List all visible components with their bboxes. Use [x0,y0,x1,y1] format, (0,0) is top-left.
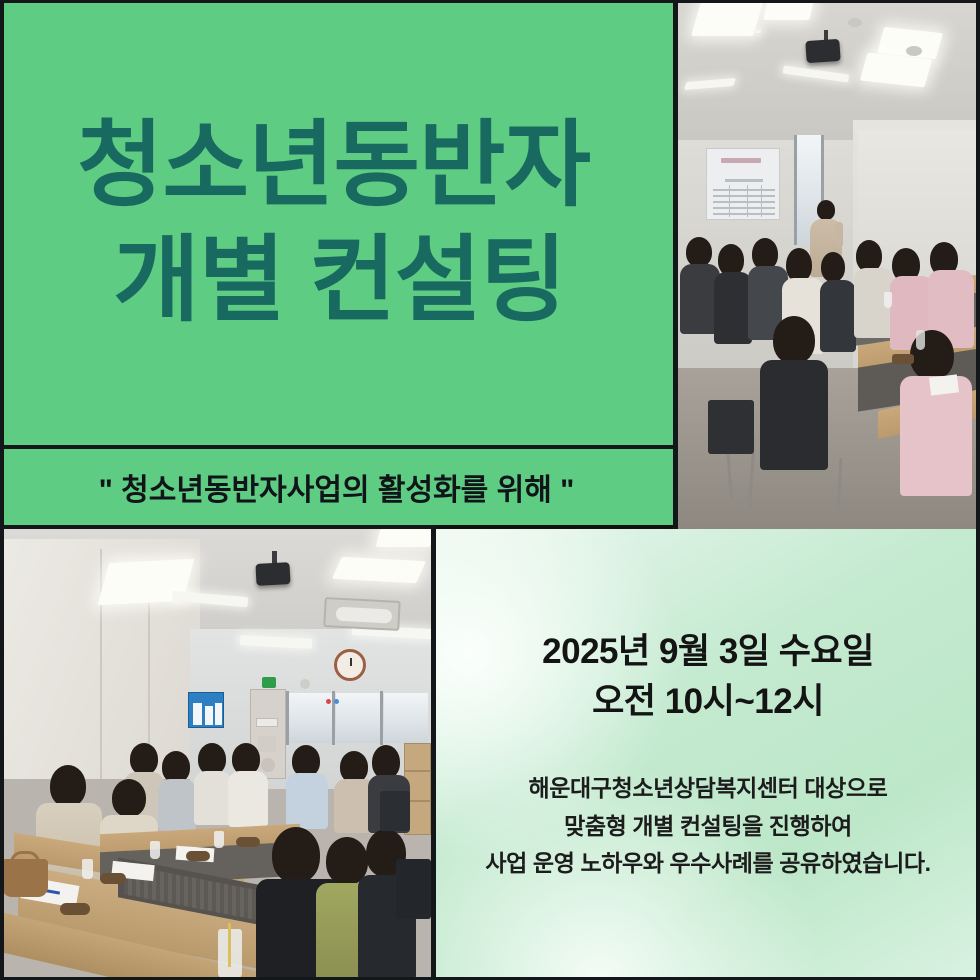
description-line-2: 맞춤형 개별 컨설팅을 진행하여 [564,808,852,845]
title-block: 청소년동반자 개별 컨설팅 [0,0,673,445]
event-time-line: 오전 10시~12시 [592,677,824,727]
divider-title-subtitle [0,445,673,449]
border-right [976,0,980,980]
description-line-3: 사업 운영 노하우와 우수사례를 공유하였습니다. [485,845,930,882]
event-date-line: 2025년 9월 3일 수요일 [542,627,874,677]
conference-room-presentation-photo [678,0,980,529]
conference-room-table-photo [0,529,431,980]
description-line-1: 해운대구청소년상담복지센터 대상으로 [529,770,888,807]
title-line-2: 개별 컨설팅 [113,223,566,338]
info-panel: 2025년 9월 3일 수요일 오전 10시~12시 해운대구청소년상담복지센터… [436,529,980,980]
poster-card: 청소년동반자 개별 컨설팅 " 청소년동반자사업의 활성화를 위해 " 2025… [0,0,980,980]
border-top [0,0,980,3]
divider-left-right-top [673,0,678,529]
border-left [0,0,4,980]
divider-left-right-bottom [431,525,436,980]
title-line-1: 청소년동반자 [77,108,590,223]
divider-subtitle-bottom [0,525,435,529]
subtitle-text: " 청소년동반자사업의 활성화를 위해 " [99,465,575,509]
subtitle-block: " 청소년동반자사업의 활성화를 위해 " [0,449,673,525]
